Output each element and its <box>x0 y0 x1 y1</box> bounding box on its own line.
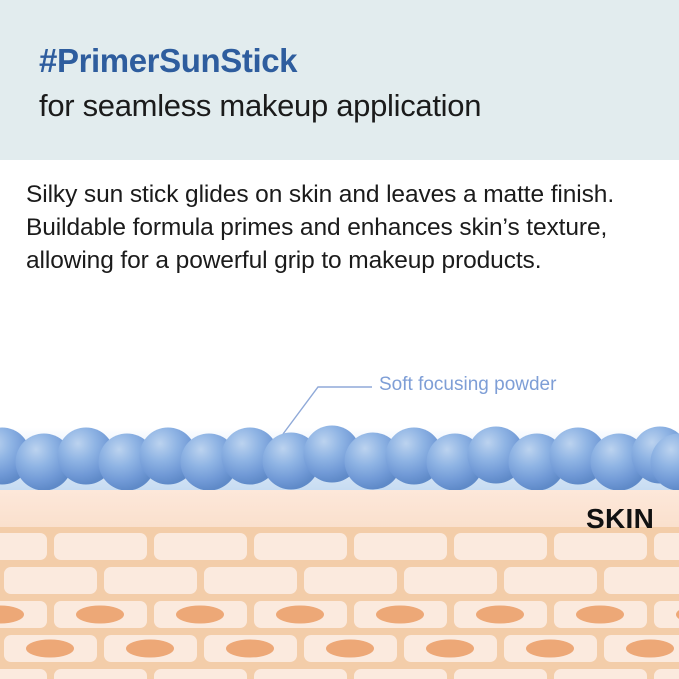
cell-nucleus <box>376 606 424 624</box>
page-title-hashtag: #PrimerSunStick <box>39 42 297 80</box>
skin-cell <box>254 669 347 679</box>
diagram-graphic <box>0 340 679 679</box>
skin-cell <box>554 533 647 560</box>
skin-cell <box>154 533 247 560</box>
skin-cell <box>604 567 679 594</box>
skin-cell <box>554 669 647 679</box>
cell-nucleus <box>26 640 74 658</box>
skin-cell <box>304 567 397 594</box>
skin-cell <box>354 669 447 679</box>
cell-nucleus <box>576 606 624 624</box>
skin-cell-row <box>0 601 679 628</box>
skin-cell <box>354 533 447 560</box>
product-infographic: #PrimerSunStick for seamless makeup appl… <box>0 0 679 679</box>
skin-cell <box>154 669 247 679</box>
skin-cell <box>504 567 597 594</box>
skin-cell <box>54 533 147 560</box>
skin-cell <box>404 567 497 594</box>
header-band: #PrimerSunStick for seamless makeup appl… <box>0 0 679 160</box>
callout-label-soft-focusing-powder: Soft focusing powder <box>379 374 556 396</box>
cell-nucleus <box>176 606 224 624</box>
cell-nucleus <box>276 606 324 624</box>
diagram-background <box>0 340 679 432</box>
cell-nucleus <box>526 640 574 658</box>
skin-cell <box>0 533 47 560</box>
skin-cell <box>654 533 679 560</box>
skin-cell <box>204 567 297 594</box>
skin-cell <box>104 567 197 594</box>
skin-cross-section-diagram: Soft focusing powder SKIN <box>0 340 679 679</box>
skin-cell-row <box>0 533 679 560</box>
skin-cell <box>54 669 147 679</box>
skin-cell <box>0 669 47 679</box>
skin-cell <box>454 669 547 679</box>
cell-nucleus <box>476 606 524 624</box>
skin-cell <box>454 533 547 560</box>
cell-nucleus <box>426 640 474 658</box>
cell-nucleus <box>126 640 174 658</box>
product-description: Silky sun stick glides on skin and leave… <box>26 178 636 277</box>
skin-layer-label: SKIN <box>586 503 654 535</box>
skin-cell <box>4 567 97 594</box>
cell-nucleus <box>76 606 124 624</box>
cell-nucleus <box>626 640 674 658</box>
skin-cell <box>254 533 347 560</box>
stratum-corneum-band <box>0 490 679 528</box>
cell-nucleus <box>226 640 274 658</box>
skin-cell <box>654 669 679 679</box>
page-subtitle: for seamless makeup application <box>39 88 481 124</box>
skin-cell-row <box>0 669 679 679</box>
cell-nucleus <box>326 640 374 658</box>
skin-cell <box>654 601 679 628</box>
